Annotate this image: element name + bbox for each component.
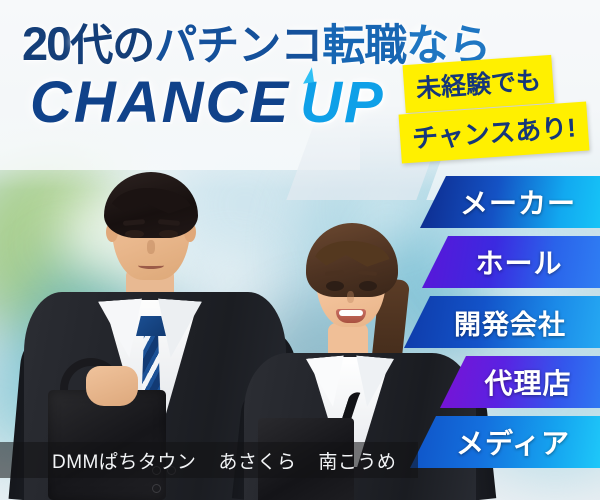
- up-arrow-icon: [301, 67, 314, 83]
- category-button-development-company[interactable]: 開発会社: [404, 296, 600, 348]
- headline-segment-4: 転職: [322, 22, 406, 70]
- category-button-hall[interactable]: ホール: [422, 236, 600, 288]
- eye-right: [359, 281, 377, 291]
- advertisement-banner[interactable]: 20代のパチンコ転職なら CHANCEUP 未経験でも チャンスあり! メーカー…: [0, 0, 600, 500]
- credit-person-1: あさくら: [218, 452, 296, 473]
- eye-left: [326, 281, 344, 291]
- category-button-media[interactable]: メディア: [410, 416, 600, 468]
- category-label: ホール: [459, 242, 562, 282]
- necktie-knot: [136, 316, 166, 336]
- headline-segment-2: 代の: [70, 22, 154, 70]
- category-label: メディア: [440, 422, 570, 462]
- category-label: 代理店: [468, 362, 571, 402]
- brand-logo: CHANCEUP: [30, 74, 385, 132]
- credit-site-name: DMMぱちタウン: [52, 452, 196, 473]
- logo-word-up: UP: [300, 70, 385, 135]
- category-label: 開発会社: [438, 303, 566, 342]
- mouth: [138, 262, 164, 269]
- suit-button: [152, 484, 161, 493]
- credit-bar: DMMぱちタウンあさくら南こうめ: [0, 442, 418, 478]
- hand-holding-briefcase: [86, 366, 138, 406]
- eye-right: [159, 230, 178, 238]
- credit-person-2: 南こうめ: [318, 452, 396, 473]
- logo-word-chance: CHANCE: [30, 70, 290, 135]
- headline-segment-number: 20: [22, 17, 70, 70]
- category-label: メーカー: [444, 182, 576, 222]
- credit-text: DMMぱちタウンあさくら南こうめ: [0, 447, 396, 474]
- category-button-agency[interactable]: 代理店: [440, 356, 600, 408]
- headline-segment-3: パチンコ: [154, 22, 322, 70]
- category-button-maker[interactable]: メーカー: [420, 176, 600, 228]
- nose: [147, 240, 155, 254]
- category-list: メーカー ホール 開発会社 代理店 メディア: [395, 176, 600, 476]
- page-title: 20代のパチンコ転職なら: [22, 20, 490, 68]
- eye-left: [125, 230, 144, 238]
- teeth: [339, 310, 363, 316]
- nose: [347, 291, 354, 303]
